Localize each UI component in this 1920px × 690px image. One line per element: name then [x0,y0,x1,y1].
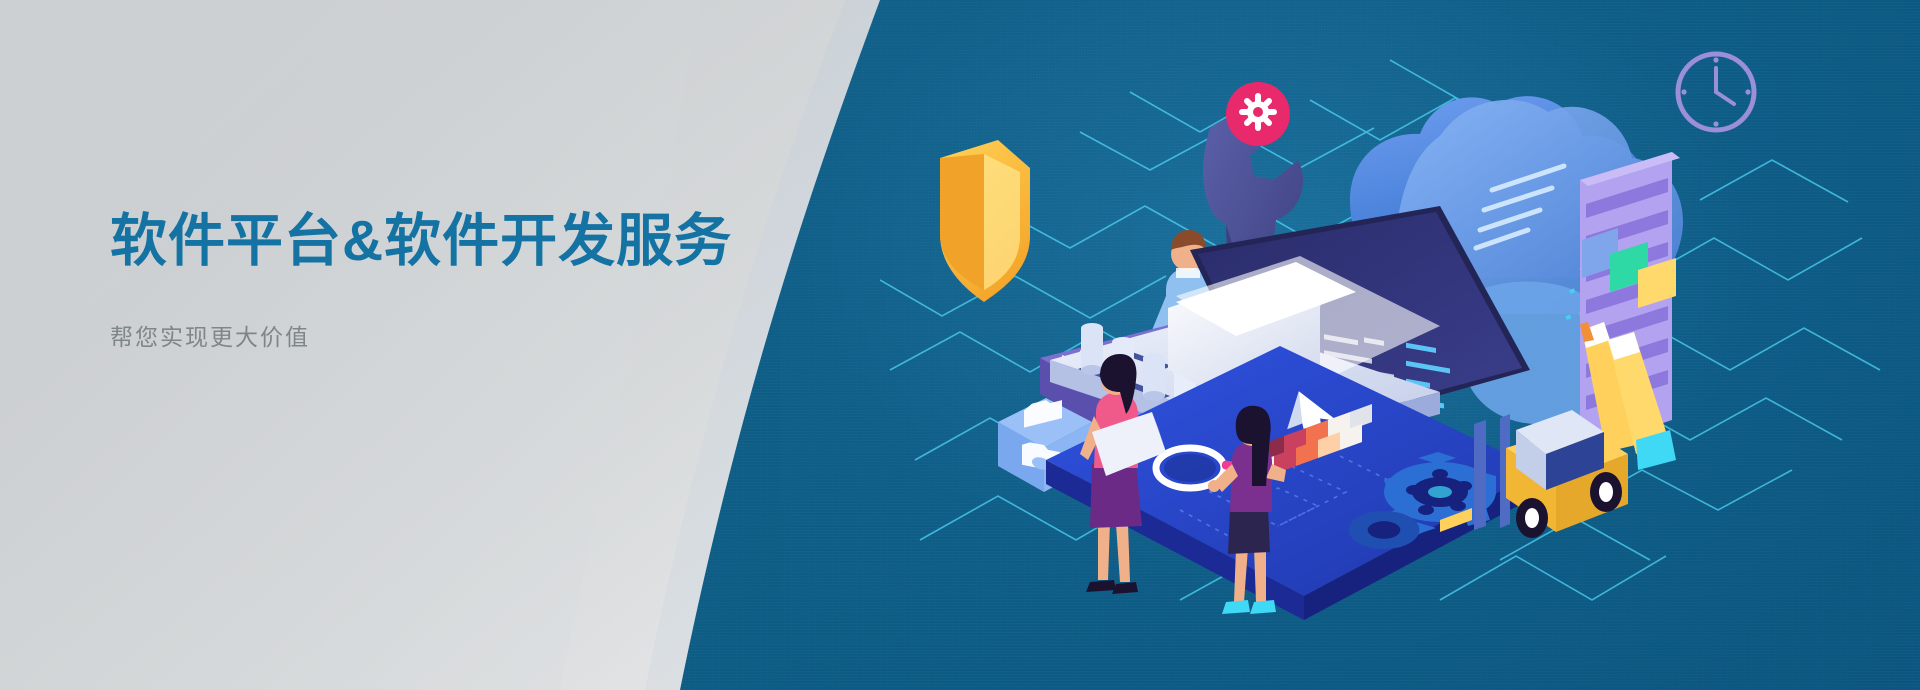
gear-badge-icon [1226,82,1290,146]
hero-text-block: 软件平台&软件开发服务 帮您实现更大价值 [110,206,870,353]
clock-icon [1678,54,1754,130]
hero-banner: 软件平台&软件开发服务 帮您实现更大价值 [0,0,1920,690]
page-title: 软件平台&软件开发服务 [110,206,870,277]
hero-illustration [880,40,1920,660]
page-subtitle: 帮您实现更大价值 [110,321,870,353]
